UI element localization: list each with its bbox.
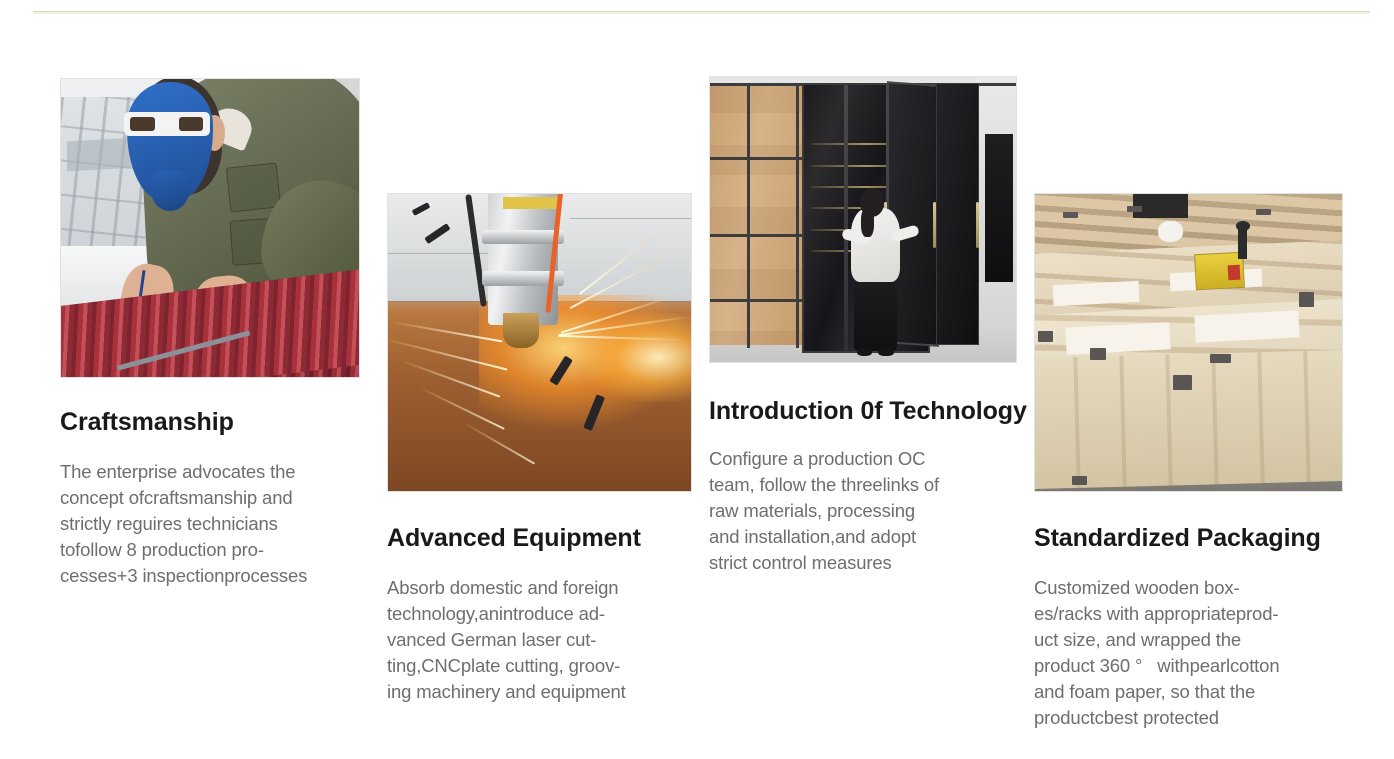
body-line: Absorb domestic and foreign [387,575,717,601]
photo-frame-post [747,83,750,348]
photo-crate-corner-bracket [1090,348,1105,360]
body-line: uct size, and wrapped the [1034,627,1374,653]
feature-card-introduction-of-technology: Introduction 0f Technology Configure a p… [709,76,1039,576]
photo-laser-head-ring [482,230,564,245]
standardized-packaging-photo [1034,193,1343,492]
body-line: Configure a production OC [709,446,1039,472]
photo-plastic-bag [1157,220,1183,242]
body-line: cesses+3 inspectionprocesses [60,563,390,589]
card-title-introduction-of-technology: Introduction 0f Technology [709,397,1039,426]
craftsmanship-photo [60,78,360,378]
body-line: team, follow the threelinks of [709,472,1039,498]
photo-door-mullion [844,85,848,352]
photo-tool-case-red-label [1228,265,1241,280]
photo-frame-post [796,83,799,348]
body-line: strict control measures [709,550,1039,576]
body-line: technology,anintroduce ad- [387,601,717,627]
photo-plywood-panel-wall [710,83,805,345]
photo-door-handle [933,202,936,248]
photo-crate-panel [1194,310,1300,342]
body-line: ing machinery and equipment [387,679,717,705]
body-line: strictly reguires technicians [60,511,390,537]
card-title-advanced-equipment: Advanced Equipment [387,524,717,553]
photo-crate-panel [1065,322,1171,354]
photo-crate-corner-bracket [1299,292,1314,307]
photo-person-shirt [851,208,900,282]
photo-person-shoe [878,348,893,357]
body-line: and foam paper, so that the [1034,679,1374,705]
card-body-craftsmanship: The enterprise advocates the concept ofc… [60,459,390,589]
body-line: productcbest protected [1034,705,1374,731]
photo-crate-corner-bracket [1173,375,1191,390]
body-line: product 360 ° withpearlcotton [1034,653,1374,679]
top-divider-rule [33,11,1370,14]
photo-jacket-pocket-upper [226,163,281,213]
photo-frame-beam [710,157,805,160]
photo-person-trousers [854,277,897,351]
body-line: Customized wooden box- [1034,575,1374,601]
photo-showroom-dark-cabinet [985,134,1013,282]
photo-person-ponytail [861,208,873,237]
body-line: ting,CNCplate cutting, groov- [387,653,717,679]
photo-spark-glow-bright [582,313,692,402]
body-line: tofollow 8 production pro- [60,537,390,563]
card-title-craftsmanship: Craftsmanship [60,408,390,437]
photo-plate-seam [570,218,691,219]
card-body-advanced-equipment: Absorb domestic and foreign technology,a… [387,575,717,705]
body-line: es/racks with appropriateprod- [1034,601,1374,627]
photo-safety-goggles [124,112,210,136]
photo-laser-nozzle [503,313,539,349]
card-body-standardized-packaging: Customized wooden box- es/racks with app… [1034,575,1374,731]
photo-fixed-door-leaf [936,83,979,345]
body-line: concept ofcraftsmanship and [60,485,390,511]
feature-card-standardized-packaging: Standardized Packaging Customized wooden… [1034,193,1374,731]
photo-spark [465,424,534,465]
body-line: vanced German laser cut- [387,627,717,653]
photo-crate-corner-bracket [1038,331,1053,343]
photo-crate-corner-bracket [1072,476,1087,485]
photo-frame-beam [710,234,805,237]
card-title-standardized-packaging: Standardized Packaging [1034,524,1374,553]
photo-tool-case-knob [1236,221,1250,231]
photo-frame-beam [710,299,805,302]
photo-crate-corner-bracket [1063,212,1078,218]
feature-card-craftsmanship: Craftsmanship The enterprise advocates t… [60,78,390,589]
photo-crate-latch [1210,354,1231,363]
card-body-introduction-of-technology: Configure a production OC team, follow t… [709,446,1039,576]
photo-crate-corner-bracket [1127,206,1142,212]
photo-machine-warning-label [503,197,558,209]
photo-door-handle [976,202,979,248]
photo-person-shoe [857,348,872,357]
advanced-equipment-photo [387,193,692,492]
body-line: raw materials, processing [709,498,1039,524]
feature-card-advanced-equipment: Advanced Equipment Absorb domestic and f… [387,193,717,705]
body-line: The enterprise advocates the [60,459,390,485]
photo-front-crate-body [1034,350,1343,489]
body-line: and installation,and adopt [709,524,1039,550]
photo-tool-case-handle [1238,227,1247,260]
photo-blue-welding-mask [127,82,213,201]
introduction-of-technology-photo [709,76,1017,363]
photo-crate-corner-bracket [1256,209,1271,215]
